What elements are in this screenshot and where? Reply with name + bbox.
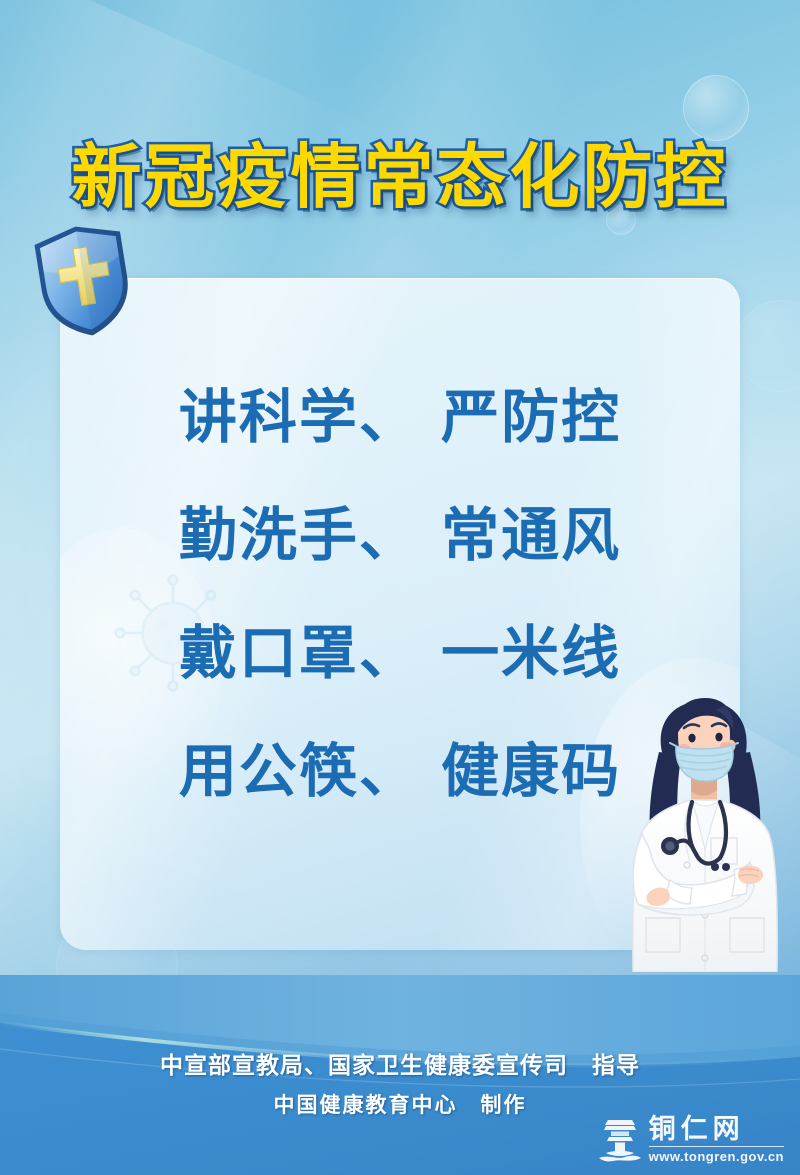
slogan-line: 勤洗手、 常通风 [60, 476, 740, 594]
pagoda-tower-icon [597, 1115, 643, 1165]
watermark-url: www.tongren.gov.cn [649, 1146, 784, 1164]
watermark-texts: 铜仁网 www.tongren.gov.cn [649, 1116, 784, 1163]
footer-credits: 中宣部宣教局、国家卫生健康委宣传司 指导 中国健康教育中心 制作 [0, 1046, 800, 1119]
title-container: 新冠疫情常态化防控 [0, 142, 800, 212]
page-title: 新冠疫情常态化防控 [72, 142, 729, 212]
footer-line-guidance: 中宣部宣教局、国家卫生健康委宣传司 指导 [0, 1046, 800, 1080]
shield-with-cross-icon [19, 214, 148, 348]
bubble-decoration-icon [735, 300, 800, 392]
watermark-site-name: 铜仁网 [649, 1116, 745, 1144]
slogan-line: 讲科学、 严防控 [60, 358, 740, 476]
masked-female-doctor-illustration [612, 690, 798, 972]
poster-canvas: 新冠疫情常态化防控 讲科学、 严防控 [0, 0, 800, 1175]
site-watermark[interactable]: 铜仁网 www.tongren.gov.cn [597, 1115, 784, 1165]
bubble-decoration-icon [683, 75, 749, 141]
